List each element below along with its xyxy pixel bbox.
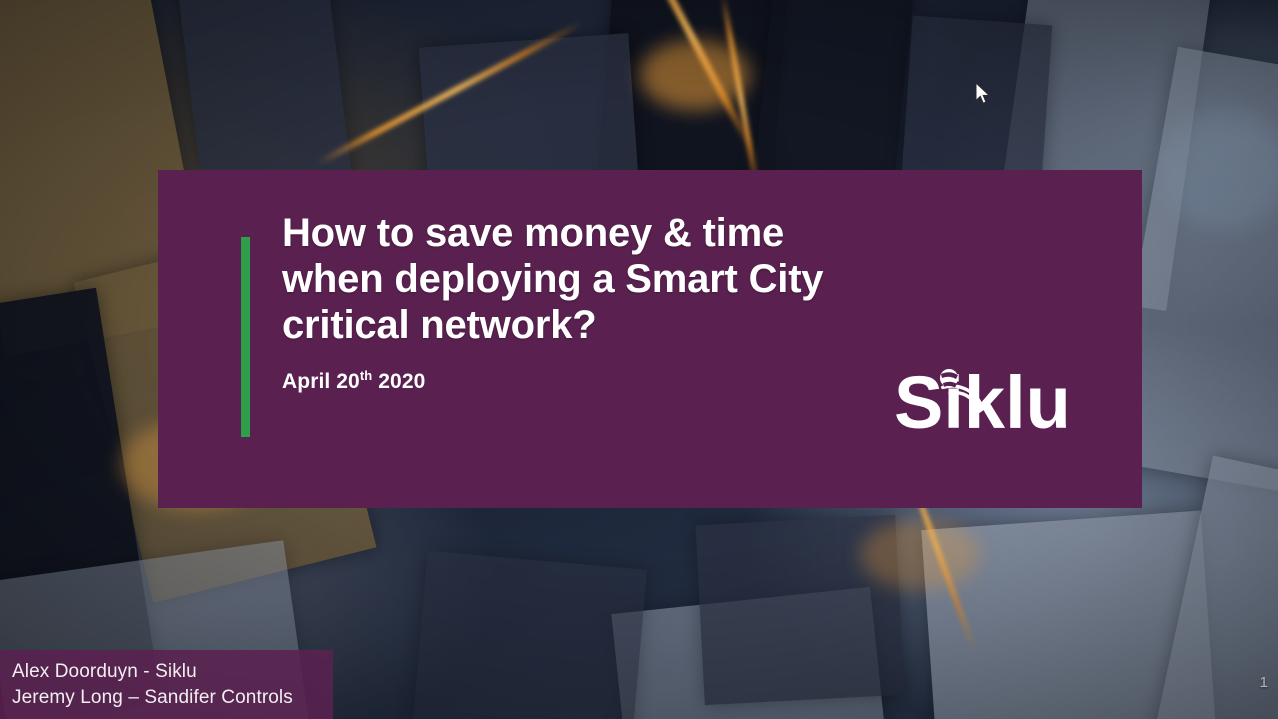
slide-date: April 20th 2020 xyxy=(282,368,922,394)
presenter-name-secondary: Jeremy Long – Sandifer Controls xyxy=(12,685,333,711)
green-accent-bar xyxy=(241,237,250,437)
slide-date-day: April 20 xyxy=(282,370,360,393)
siklu-wordmark-text: Siklu xyxy=(894,361,1071,444)
page-number: 1 xyxy=(1260,674,1268,691)
slide-date-ordinal: th xyxy=(360,368,373,383)
title-panel: How to save money & time when deploying … xyxy=(158,170,1142,508)
presentation-slide: How to save money & time when deploying … xyxy=(0,0,1278,719)
title-block: How to save money & time when deploying … xyxy=(282,210,922,394)
presenter-overlay: Alex Doorduyn - Siklu Jeremy Long – Sand… xyxy=(0,650,333,719)
slide-date-year: 2020 xyxy=(372,370,425,393)
presenter-name-primary: Alex Doorduyn - Siklu xyxy=(12,659,333,685)
siklu-logo: Siklu xyxy=(894,360,1094,446)
page-title: How to save money & time when deploying … xyxy=(282,210,922,348)
